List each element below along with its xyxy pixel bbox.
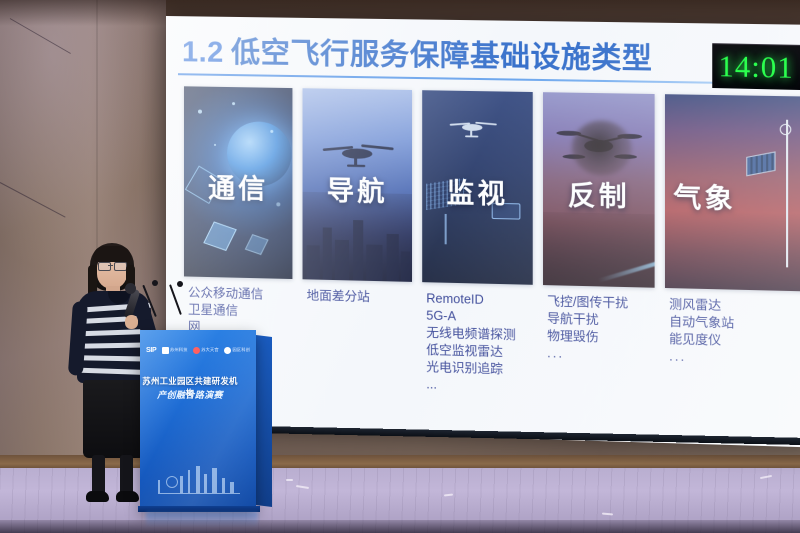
panel-caption: 通信	[184, 166, 292, 207]
eyeglasses	[98, 262, 111, 271]
panel-caption: 导航	[303, 168, 412, 210]
cube-icon	[245, 234, 269, 255]
caption-line: 自动气象站	[669, 314, 734, 333]
caption-line: ...	[426, 376, 516, 396]
panel-caption: 监视	[422, 170, 533, 212]
hand	[125, 315, 138, 329]
caption-column-navigation: 地面差分站	[307, 287, 370, 306]
anemometer-icon	[780, 123, 792, 134]
panel-navigation: 导航	[303, 88, 412, 282]
clock-time: 14:01	[718, 48, 793, 86]
panel-caption: 反制	[543, 173, 655, 215]
lectern: SIP 苏州科技 苏大天宫 园区科创 苏州工业园区共建研发机构 产创融合路演赛	[140, 330, 272, 510]
panel-counter-measures: 反制	[543, 92, 655, 288]
lectern-side-panel	[256, 335, 272, 507]
floor-front-edge	[0, 520, 800, 533]
skirt	[83, 380, 145, 458]
caption-column-meteorology: 测风雷达 自动气象站 能见度仪 ...	[669, 296, 734, 367]
microphone-capsule	[125, 283, 136, 294]
shoe	[116, 491, 139, 502]
microphone-head	[177, 281, 183, 287]
caption-line: 卫星通信	[188, 302, 263, 321]
lectern-front-panel: SIP 苏州科技 苏大天宫 园区科创 苏州工业园区共建研发机构 产创融合路演赛	[140, 330, 256, 510]
caption-line: 地面差分站	[307, 287, 370, 306]
node-dot	[232, 102, 235, 105]
caption-line: RemoteID	[426, 290, 516, 309]
caption-line: ...	[669, 348, 734, 367]
floor-debris	[286, 479, 293, 481]
presentation-scene: 1.2低空飞行服务保障基础设施类型 通信	[0, 0, 800, 533]
wall-clock: 14:01	[712, 43, 800, 90]
panel-surveillance: 监视	[422, 90, 533, 285]
slide-title: 1.2低空飞行服务保障基础设施类型	[182, 28, 652, 77]
lectern-floor-reflection	[146, 512, 258, 528]
caption-line: 飞控/图传干扰	[547, 293, 628, 312]
leg	[120, 455, 133, 495]
node-dot	[198, 109, 202, 113]
caption-line: 公众移动通信	[188, 285, 263, 304]
panel-communication: 通信	[184, 86, 292, 279]
lectern-gloss	[140, 330, 256, 510]
caption-line: ...	[547, 345, 628, 364]
caption-line: 导航干扰	[547, 311, 628, 330]
caption-line: 能见度仪	[669, 331, 734, 350]
smoke-plume	[572, 120, 632, 176]
eyeglass-bridge	[108, 265, 113, 266]
caption-columns: 公众移动通信 卫星通信 网 地面差分站 RemoteID 5G-A 无线电频谱探…	[184, 284, 800, 422]
hair-fringe	[93, 246, 131, 262]
panel-row: 通信	[184, 86, 800, 291]
node-dot	[270, 130, 273, 133]
caption-column-surveillance: RemoteID 5G-A 无线电频谱探测 低空监视雷达 光电识别追踪 ...	[426, 290, 516, 396]
caption-column-counter-measures: 飞控/图传干扰 导航干扰 物理毁伤 ...	[547, 293, 628, 364]
caption-line: 测风雷达	[669, 296, 734, 315]
slide-title-number: 1.2	[182, 36, 224, 69]
solar-panel-icon	[746, 151, 775, 176]
caption-line: 物理毁伤	[547, 328, 628, 347]
panel-meteorology: 气象	[665, 94, 800, 291]
leg	[92, 455, 105, 495]
slide-title-text: 低空飞行服务保障基础设施类型	[231, 37, 652, 76]
node-dot	[214, 144, 216, 146]
panel-caption: 气象	[665, 175, 800, 218]
shoe	[86, 491, 109, 502]
caption-line: 光电识别追踪	[426, 359, 516, 379]
cube-icon	[203, 221, 237, 251]
